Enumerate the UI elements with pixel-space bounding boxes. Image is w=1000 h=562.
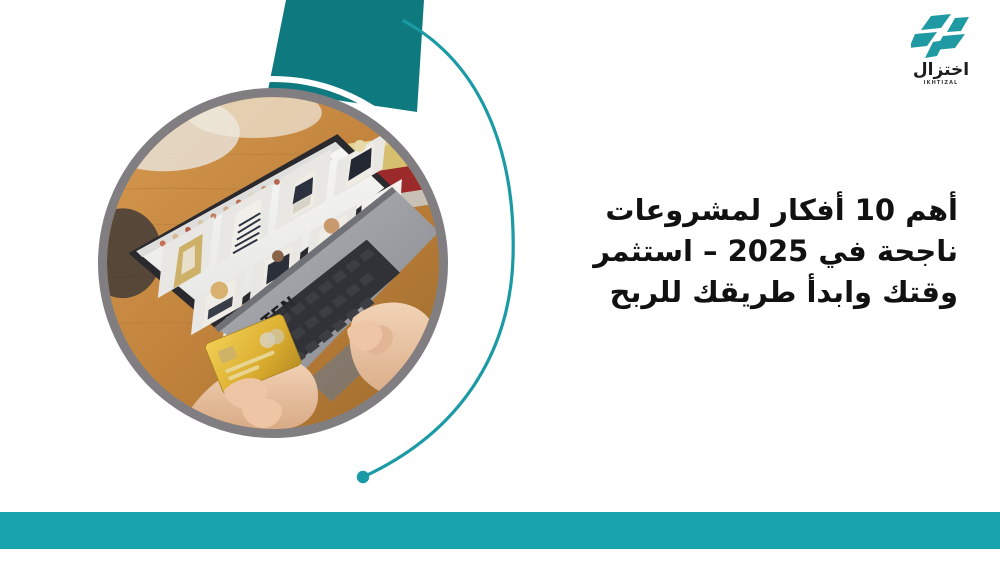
page-title: أهم 10 أفكار لمشروعات ناجحة في 2025 – اس… — [528, 190, 958, 314]
teal-footer-bar — [0, 512, 1000, 549]
blog-banner: TEN — [0, 0, 1000, 562]
headline-line-1: أهم 10 أفكار لمشروعات — [528, 190, 958, 231]
headline-line-3: وقتك وابدأ طريقك للربح — [528, 272, 958, 313]
footer-white-strip — [0, 549, 1000, 562]
photo-illustration: TEN — [107, 97, 439, 429]
ikhtizal-logo[interactable]: اختزال IKHTIZAL — [900, 12, 982, 98]
online-shopping-laptop-photo: TEN — [98, 88, 448, 438]
photo-inner: TEN — [107, 97, 439, 429]
logo-wordmark-ar: اختزال — [913, 62, 969, 79]
headline-line-2: ناجحة في 2025 – استثمر — [528, 231, 958, 272]
ikhtizal-mark-icon — [911, 12, 971, 60]
logo-wordmark-latin: IKHTIZAL — [924, 80, 959, 86]
